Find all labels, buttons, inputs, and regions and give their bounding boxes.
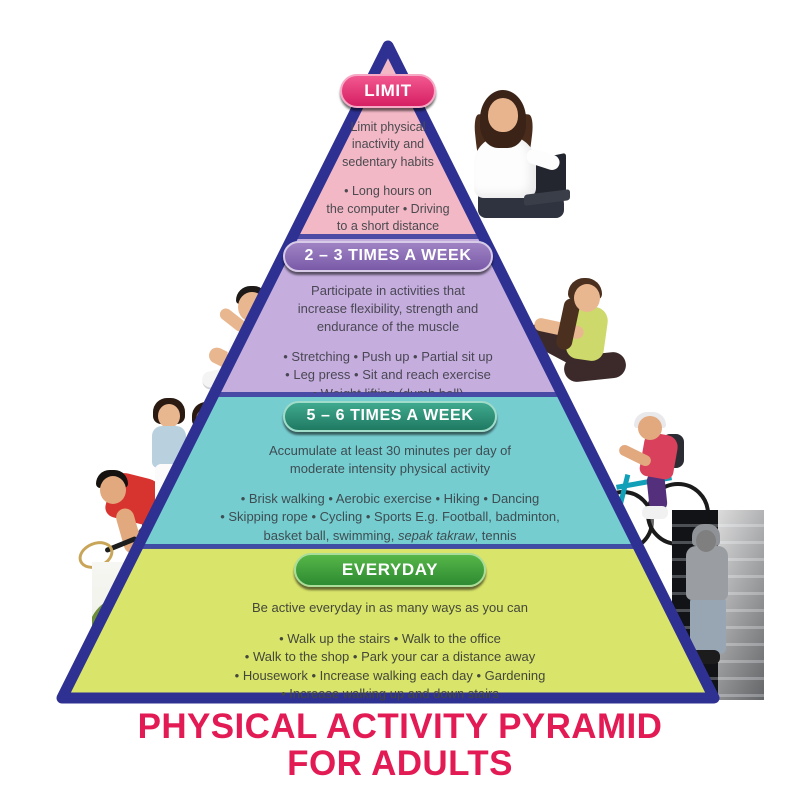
tier-two-three-times: 2 – 3 TIMES A WEEK Participate in activi… — [200, 241, 576, 393]
tier-limit: LIMIT Limit physical inactivity and sede… — [236, 74, 540, 234]
tier-five-six-times-examples-line3: basket ball, swimming, sepak takraw, ten… — [165, 527, 615, 545]
tier-limit-description: Limit physical inactivity and sedentary … — [283, 119, 493, 171]
badge-everyday[interactable]: EVERYDAY — [294, 553, 486, 587]
tier-everyday-examples: • Walk up the stairs • Walk to the offic… — [130, 630, 650, 703]
tier-five-six-times: 5 – 6 TIMES A WEEK Accumulate at least 3… — [156, 401, 624, 547]
page-title-line2: FOR ADULTS — [0, 745, 800, 782]
tier-everyday: EVERYDAY Be active everyday in as many w… — [120, 553, 660, 703]
badge-five-six-times[interactable]: 5 – 6 TIMES A WEEK — [283, 401, 498, 432]
tier-two-three-times-description: Participate in activities that increase … — [223, 282, 553, 336]
tier-five-six-times-examples: • Brisk walking • Aerobic exercise • Hik… — [165, 490, 615, 545]
poster-canvas: LIMIT Limit physical inactivity and sede… — [0, 0, 800, 800]
tier-five-six-times-description: Accumulate at least 30 minutes per day o… — [190, 442, 590, 478]
page-title: PHYSICAL ACTIVITY PYRAMID FOR ADULTS — [0, 708, 800, 782]
badge-limit[interactable]: LIMIT — [340, 74, 435, 108]
tier-two-three-times-examples: • Stretching • Push up • Partial sit up … — [215, 348, 561, 393]
badge-two-three-times[interactable]: 2 – 3 TIMES A WEEK — [283, 241, 494, 272]
page-title-line1: PHYSICAL ACTIVITY PYRAMID — [138, 707, 663, 746]
italic-sepak-takraw: sepak takraw — [398, 528, 475, 543]
tier-limit-examples: • Long hours on the computer • Driving t… — [268, 183, 508, 234]
tier-everyday-description: Be active everyday in as many ways as yo… — [160, 599, 620, 617]
